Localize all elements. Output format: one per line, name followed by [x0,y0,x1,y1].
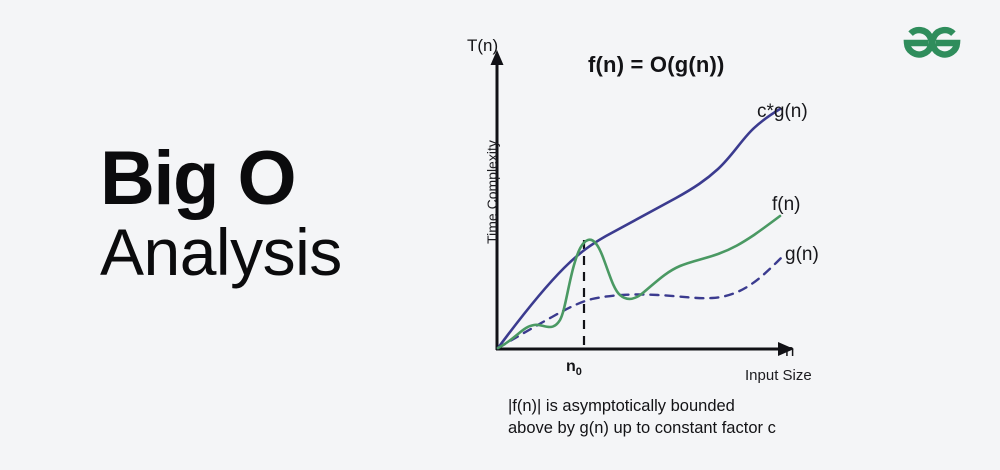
title-line-big-o: Big O [100,142,440,216]
threshold-tick-label-text: n [566,358,576,375]
curve-c-g-n [498,109,780,348]
x-axis-title: Input Size [745,367,812,384]
curve-label-c-g-n: c*g(n) [757,101,808,123]
chart-axes [491,50,795,356]
x-axis-end-label: n [785,341,794,361]
chart-caption: |f(n)| is asymptotically bounded above b… [508,395,938,440]
y-axis-title: Time Complexity [484,127,500,257]
threshold-tick-label: n0 [566,358,582,378]
page-title: Big O Analysis [100,142,440,290]
big-o-chart: f(n) = O(g(n)) T(n) Time Complexity n In… [440,14,860,414]
y-axis-top-label: T(n) [467,36,498,56]
chart-formula: f(n) = O(g(n)) [588,52,725,78]
curve-label-g-n: g(n) [785,244,819,266]
title-line-analysis: Analysis [100,216,440,290]
curve-label-f-n: f(n) [772,194,801,216]
slide-canvas: Big O Analysis [0,0,1000,470]
geeksforgeeks-logo [898,22,966,66]
curve-f-n [498,216,780,348]
curve-g-n [498,258,781,348]
caption-line-1: |f(n)| is asymptotically bounded [508,395,938,417]
geeksforgeeks-logo-icon [898,22,966,66]
threshold-tick-label-sub: 0 [576,366,582,378]
caption-line-2: above by g(n) up to constant factor c [508,417,938,439]
